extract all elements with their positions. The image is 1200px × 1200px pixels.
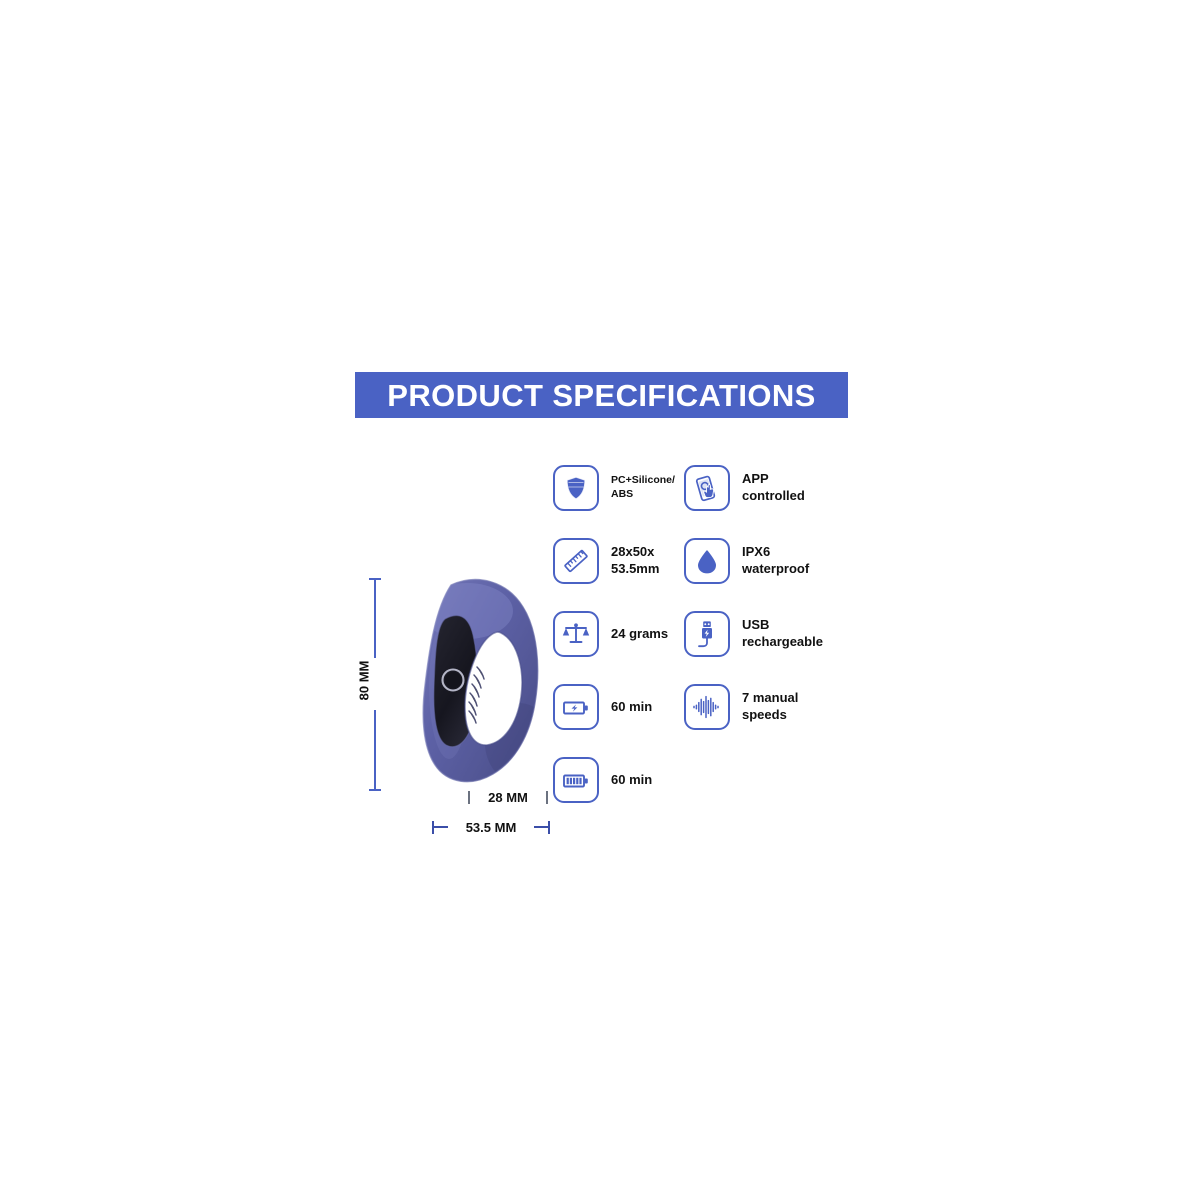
ruler-icon-box xyxy=(553,538,599,584)
height-dimension-cap-bottom xyxy=(369,789,381,791)
width-rule-right xyxy=(534,826,548,828)
width-dimension-bracket: 53.5 MM xyxy=(432,817,550,837)
water-drop-icon-box xyxy=(684,538,730,584)
spec-item-app-control: APP controlled xyxy=(684,462,805,514)
product-image xyxy=(415,575,545,790)
depth-dimension-bracket: 28 MM xyxy=(468,787,548,807)
phone-touch-icon-box xyxy=(684,465,730,511)
height-dimension-cap-top xyxy=(369,578,381,580)
spec-label-usb: USB rechargeable xyxy=(742,617,823,650)
scales-icon-box xyxy=(553,611,599,657)
phone-touch-icon xyxy=(693,474,721,502)
spec-item-speeds: 7 manual speeds xyxy=(684,681,798,733)
page-title: PRODUCT SPECIFICATIONS xyxy=(387,380,815,411)
water-drop-icon xyxy=(694,547,720,575)
spec-item-usb: USB rechargeable xyxy=(684,608,823,660)
battery-full-icon xyxy=(561,766,591,794)
spec-item-material: PC+Silicone/ ABS xyxy=(553,462,675,514)
spec-label-charge-time: 60 min xyxy=(611,699,652,716)
spec-label-speeds: 7 manual speeds xyxy=(742,690,798,723)
spec-label-weight: 24 grams xyxy=(611,626,668,643)
depth-tick-right xyxy=(546,791,548,804)
shield-icon-box xyxy=(553,465,599,511)
usb-plug-icon-box xyxy=(684,611,730,657)
battery-full-icon-box xyxy=(553,757,599,803)
spec-label-app-control: APP controlled xyxy=(742,471,805,504)
product-specification-infographic: PRODUCT SPECIFICATIONS 80 MM xyxy=(0,0,1200,1200)
waveform-icon xyxy=(692,693,722,721)
specification-grid: PC+Silicone/ ABS xyxy=(553,462,863,822)
spec-label-run-time: 60 min xyxy=(611,772,652,789)
height-dimension-label: 80 MM xyxy=(356,661,371,701)
usb-plug-icon xyxy=(693,619,721,649)
width-dimension-label: 53.5 MM xyxy=(448,820,534,835)
spec-item-weight: 24 grams xyxy=(553,608,668,660)
ruler-icon xyxy=(562,547,590,575)
spec-item-size: 28x50x 53.5mm xyxy=(553,535,659,587)
width-tick-right xyxy=(548,821,550,834)
depth-dimension-label: 28 MM xyxy=(470,790,546,805)
spec-item-charge-time: 60 min xyxy=(553,681,652,733)
product-dimension-diagram: 80 MM xyxy=(360,555,560,845)
battery-charging-icon-box xyxy=(553,684,599,730)
scales-icon xyxy=(562,620,590,648)
shield-icon xyxy=(562,474,590,502)
spec-label-waterproof: IPX6 waterproof xyxy=(742,544,809,577)
page-title-banner: PRODUCT SPECIFICATIONS xyxy=(355,372,848,418)
spec-item-waterproof: IPX6 waterproof xyxy=(684,535,809,587)
spec-label-material: PC+Silicone/ ABS xyxy=(611,474,675,502)
spec-item-run-time: 60 min xyxy=(553,754,652,806)
width-rule-left xyxy=(434,826,448,828)
battery-charging-icon xyxy=(561,693,591,721)
waveform-icon-box xyxy=(684,684,730,730)
spec-label-size: 28x50x 53.5mm xyxy=(611,544,659,577)
